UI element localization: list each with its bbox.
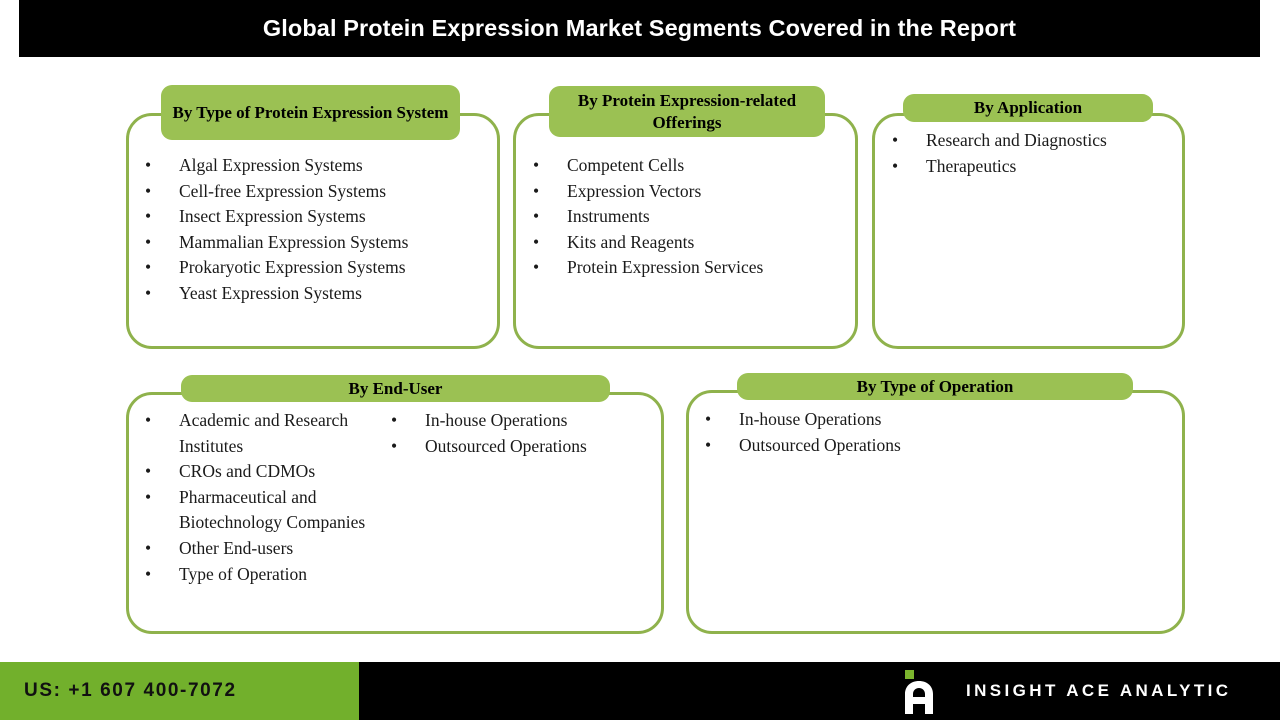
list-item: • In-house Operations [705, 407, 955, 433]
bullet-icon: • [145, 562, 179, 588]
footer-contact-band: US: +1 607 400-7072 [0, 662, 359, 720]
list-item: • Pharmaceutical and Biotechnology Compa… [145, 485, 395, 536]
list-item-label: Type of Operation [179, 562, 395, 588]
list-item-label: Expression Vectors [567, 179, 843, 205]
list-item-label: Protein Expression Services [567, 255, 843, 281]
brand-lockup: INSIGHT ACE ANALYTIC [898, 662, 1231, 720]
list-item: • Expression Vectors [533, 179, 843, 205]
list-item: • Algal Expression Systems [145, 153, 489, 179]
list-item: • Outsourced Operations [705, 433, 955, 459]
bullet-icon: • [145, 179, 179, 205]
header-bar: Global Protein Expression Market Segment… [19, 0, 1260, 57]
segment-title-label: By Application [966, 97, 1090, 118]
list-item-label: Other End-users [179, 536, 395, 562]
segment-list-type-of-protein-expression-system: • Algal Expression Systems • Cell-free E… [145, 153, 489, 307]
bullet-icon: • [145, 485, 179, 511]
list-item-label: Research and Diagnostics [926, 128, 1167, 154]
segment-list-end-user-column-2: • In-house Operations • Outsourced Opera… [391, 408, 631, 459]
list-item: • Instruments [533, 204, 843, 230]
bullet-icon: • [533, 179, 567, 205]
list-item: • Research and Diagnostics [892, 128, 1167, 154]
segment-list-application: • Research and Diagnostics • Therapeutic… [892, 128, 1167, 179]
list-item-label: Instruments [567, 204, 843, 230]
logo-green-square-icon [905, 670, 914, 679]
list-item-label: CROs and CDMOs [179, 459, 395, 485]
list-item: • Type of Operation [145, 562, 395, 588]
segment-title-badge-end-user: By End-User [181, 375, 610, 402]
bullet-icon: • [145, 459, 179, 485]
list-item-label: Algal Expression Systems [179, 153, 489, 179]
segment-title-label: By End-User [341, 378, 451, 399]
list-item-label: In-house Operations [425, 408, 631, 434]
segment-list-end-user-column-1: • Academic and Research Institutes • CRO… [145, 408, 395, 587]
bullet-icon: • [391, 434, 425, 460]
bullet-icon: • [533, 230, 567, 256]
list-item-label: Prokaryotic Expression Systems [179, 255, 489, 281]
footer-phone-label[interactable]: US: +1 607 400-7072 [24, 680, 237, 702]
segment-title-label: By Type of Protein Expression System [165, 102, 457, 123]
list-item: • Therapeutics [892, 154, 1167, 180]
bullet-icon: • [145, 153, 179, 179]
bullet-icon: • [705, 433, 739, 459]
bullet-icon: • [533, 204, 567, 230]
brand-name-label: INSIGHT ACE ANALYTIC [966, 681, 1231, 701]
list-item-label: Cell-free Expression Systems [179, 179, 489, 205]
segment-list-protein-expression-related-offerings: • Competent Cells • Expression Vectors •… [533, 153, 843, 281]
list-item-label: Mammalian Expression Systems [179, 230, 489, 256]
bullet-icon: • [145, 255, 179, 281]
list-item: • Kits and Reagents [533, 230, 843, 256]
bullet-icon: • [892, 128, 926, 154]
list-item: • Academic and Research Institutes [145, 408, 395, 459]
segment-title-badge-type-of-protein-expression-system: By Type of Protein Expression System [161, 85, 460, 140]
list-item-label: Outsourced Operations [425, 434, 631, 460]
list-item-label: Pharmaceutical and Biotechnology Compani… [179, 485, 395, 536]
segment-title-label: By Type of Operation [849, 376, 1022, 397]
segment-title-badge-type-of-operation: By Type of Operation [737, 373, 1133, 400]
list-item-label: Yeast Expression Systems [179, 281, 489, 307]
bullet-icon: • [145, 204, 179, 230]
bullet-icon: • [533, 153, 567, 179]
list-item: • Cell-free Expression Systems [145, 179, 489, 205]
bullet-icon: • [145, 230, 179, 256]
segment-title-badge-protein-expression-related-offerings: By Protein Expression-related Offerings [549, 86, 825, 137]
page-title: Global Protein Expression Market Segment… [263, 15, 1016, 42]
list-item: • Insect Expression Systems [145, 204, 489, 230]
bullet-icon: • [391, 408, 425, 434]
bullet-icon: • [705, 407, 739, 433]
list-item: • Other End-users [145, 536, 395, 562]
segment-title-badge-application: By Application [903, 94, 1153, 122]
list-item: • Outsourced Operations [391, 434, 631, 460]
bullet-icon: • [145, 408, 179, 434]
list-item-label: Therapeutics [926, 154, 1167, 180]
bullet-icon: • [145, 536, 179, 562]
insight-ace-a-mark-icon [898, 668, 944, 714]
list-item: • CROs and CDMOs [145, 459, 395, 485]
list-item: • In-house Operations [391, 408, 631, 434]
segment-title-label: By Protein Expression-related Offerings [549, 90, 825, 132]
segment-list-type-of-operation: • In-house Operations • Outsourced Opera… [705, 407, 955, 458]
list-item: • Competent Cells [533, 153, 843, 179]
list-item: • Protein Expression Services [533, 255, 843, 281]
list-item-label: Academic and Research Institutes [179, 408, 395, 459]
bullet-icon: • [533, 255, 567, 281]
list-item-label: Kits and Reagents [567, 230, 843, 256]
list-item-label: Competent Cells [567, 153, 843, 179]
list-item: • Prokaryotic Expression Systems [145, 255, 489, 281]
bullet-icon: • [145, 281, 179, 307]
bullet-icon: • [892, 154, 926, 180]
list-item-label: Outsourced Operations [739, 433, 955, 459]
list-item-label: In-house Operations [739, 407, 955, 433]
list-item-label: Insect Expression Systems [179, 204, 489, 230]
list-item: • Yeast Expression Systems [145, 281, 489, 307]
list-item: • Mammalian Expression Systems [145, 230, 489, 256]
